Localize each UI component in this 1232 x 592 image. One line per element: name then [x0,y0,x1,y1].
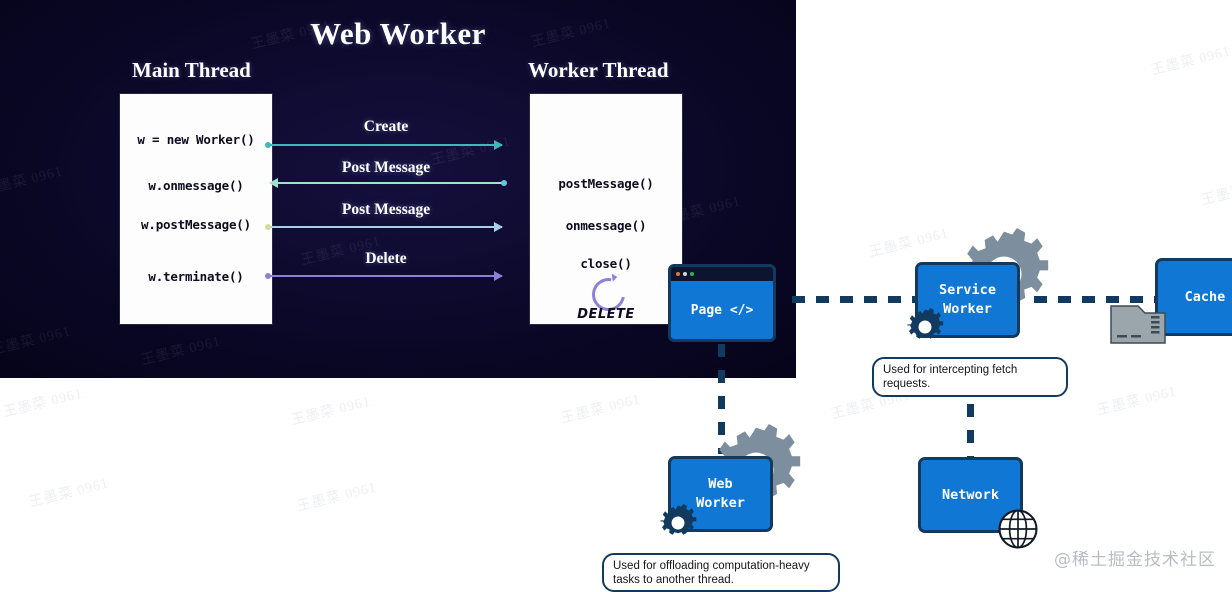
watermark-tile: 王墨菜 0961 [1095,380,1179,419]
gear-icon [659,504,697,542]
connector-service-worker-to-network [967,404,974,460]
arrow-label-post-message-up: Post Message [270,159,502,177]
memory-card-icon [1110,300,1166,344]
main-thread-heading: Main Thread [132,58,251,83]
page-browser-window[interactable]: Page </> [668,264,776,342]
watermark-tile: 王墨菜 0961 [0,320,73,359]
watermark-tile: 王墨菜 0961 [1,382,85,421]
panel-title: Web Worker [0,16,796,52]
traffic-light-close-icon[interactable] [676,272,680,276]
brand-watermark: @稀土掘金技术社区 [1054,545,1216,570]
traffic-light-maximize-icon[interactable] [690,272,694,276]
watermark-tile: 王墨菜 0961 [867,222,951,261]
page-window-titlebar [671,267,773,281]
arrow-post-message-to-worker [270,226,502,228]
watermark-tile: 王墨菜 0961 [0,160,65,199]
worker-thread-heading: Worker Thread [528,58,669,83]
service-worker-callout-text: Used for intercepting fetch requests. [883,363,1057,391]
cache-node[interactable]: Cache [1155,258,1232,336]
network-label: Network [942,486,999,505]
globe-icon [997,508,1039,550]
code-line-worker-onmessage: onmessage() [530,218,682,233]
cache-label: Cache [1185,288,1226,307]
delete-word-label: DELETE [530,307,682,322]
arrow-label-delete: Delete [270,250,502,268]
main-thread-card: w = new Worker() w.onmessage() w.postMes… [120,94,272,324]
watermark-tile: 王墨菜 0961 [295,476,379,515]
connector-page-to-service-worker [792,296,916,303]
arrow-post-message-to-main [270,182,502,184]
code-line-postmessage: w.postMessage() [120,217,272,232]
service-worker-callout: Used for intercepting fetch requests. [872,357,1068,397]
code-line-worker-close: close() [530,256,682,271]
watermark-tile: 王墨菜 0961 [27,472,111,511]
web-worker-callout: Used for offloading computation-heavy ta… [602,553,840,592]
code-line-new-worker: w = new Worker() [120,132,272,147]
watermark-tile: 王墨菜 0961 [139,330,223,369]
diagram-canvas: 王墨菜 0961 王墨菜 0961 王墨菜 0961 王墨菜 0961 王墨菜 … [0,0,1232,592]
traffic-light-minimize-icon[interactable] [683,272,687,276]
watermark-tile: 王墨菜 0961 [559,388,643,427]
arrow-create [270,144,502,146]
code-line-terminate: w.terminate() [120,269,272,284]
page-node-label: Page </> [691,303,754,318]
page-window-body: Page </> [671,281,773,339]
web-worker-callout-text: Used for offloading computation-heavy ta… [613,559,829,587]
watermark-tile: 王墨菜 0961 [289,390,373,429]
watermark-tile: 王墨菜 0961 [1199,170,1232,209]
arrow-label-create: Create [270,118,502,136]
worker-thread-card: postMessage() onmessage() close() DELETE [530,94,682,324]
gear-icon [906,308,944,346]
service-worker-label: Service Worker [939,281,996,319]
arrow-delete [270,275,502,277]
web-worker-label: Web Worker [696,475,745,513]
code-line-onmessage: w.onmessage() [120,178,272,193]
arrow-label-post-message-down: Post Message [270,201,502,219]
code-line-worker-postmessage: postMessage() [530,176,682,191]
watermark-tile: 王墨菜 0961 [1149,40,1232,79]
